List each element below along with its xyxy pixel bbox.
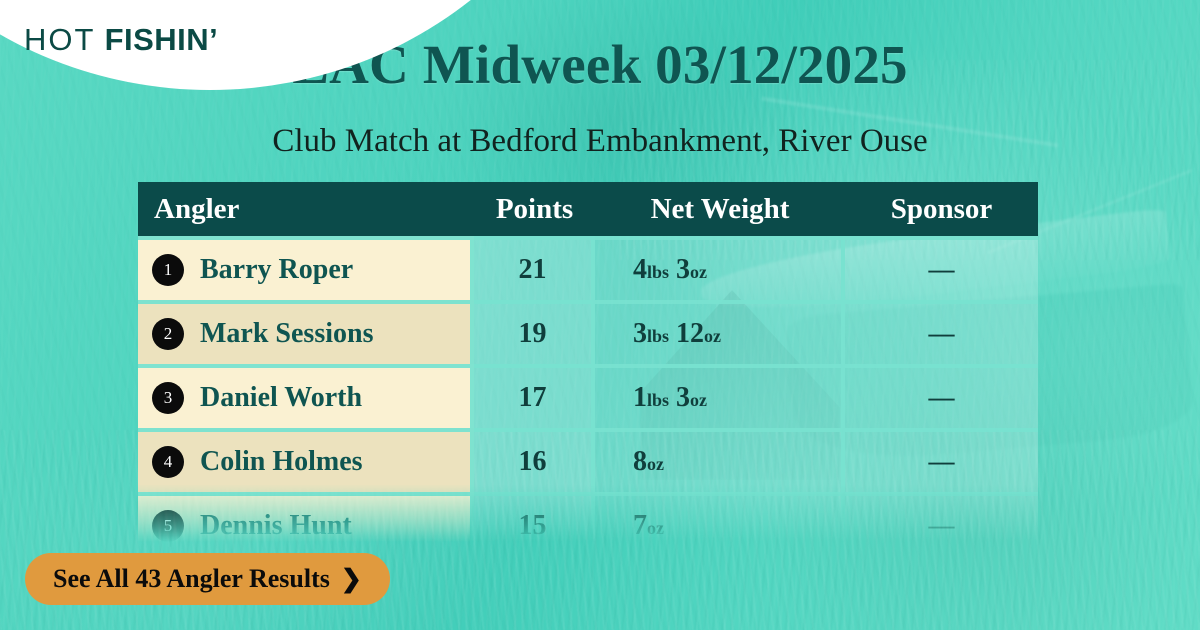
table-row[interactable]: 4Colin Holmes168oz—: [138, 428, 1038, 492]
weight-lbs-unit: lbs: [647, 326, 669, 346]
logo-word-fishin: FISHIN’: [105, 22, 219, 57]
table-body: 1Barry Roper214lbs3oz—2Mark Sessions193l…: [138, 236, 1038, 542]
angler-name: Daniel Worth: [200, 382, 362, 414]
weight-oz-unit: oz: [690, 390, 707, 410]
cell-sponsor: —: [845, 300, 1038, 364]
angler-cell-content: 4Colin Holmes: [152, 446, 456, 478]
angler-name: Dennis Hunt: [200, 510, 352, 542]
results-table-container: Angler Points Net Weight Sponsor 1Barry …: [138, 182, 1038, 542]
cell-sponsor: —: [845, 236, 1038, 300]
cell-net-weight: 1lbs3oz: [595, 364, 845, 428]
angler-cell-content: 5Dennis Hunt: [152, 510, 456, 542]
angler-cell-content: 1Barry Roper: [152, 254, 456, 286]
weight-lbs-value: 3: [633, 318, 647, 349]
weight-oz-unit: oz: [704, 326, 721, 346]
cell-sponsor: —: [845, 492, 1038, 542]
chevron-right-icon: ❯: [341, 564, 362, 594]
rank-badge: 3: [152, 382, 184, 414]
column-header-points: Points: [474, 182, 595, 236]
weight-lbs-unit: lbs: [647, 390, 669, 410]
cell-angler: 3Daniel Worth: [138, 364, 474, 428]
cell-points: 17: [474, 364, 595, 428]
angler-name: Barry Roper: [200, 254, 353, 286]
column-header-net-weight: Net Weight: [595, 182, 845, 236]
see-all-results-button[interactable]: See All 43 Angler Results ❯: [25, 553, 390, 605]
cell-net-weight: 7oz: [595, 492, 845, 542]
page-subtitle: Club Match at Bedford Embankment, River …: [0, 123, 1200, 160]
weight-oz-value: 8: [633, 446, 647, 477]
weight-oz-value: 3: [676, 254, 690, 285]
table-row[interactable]: 3Daniel Worth171lbs3oz—: [138, 364, 1038, 428]
cell-net-weight: 4lbs3oz: [595, 236, 845, 300]
see-all-results-label: See All 43 Angler Results: [53, 564, 330, 594]
cell-sponsor: —: [845, 364, 1038, 428]
cell-net-weight: 8oz: [595, 428, 845, 492]
rank-badge: 4: [152, 446, 184, 478]
cell-net-weight: 3lbs12oz: [595, 300, 845, 364]
cell-angler: 2Mark Sessions: [138, 300, 474, 364]
cell-sponsor: —: [845, 428, 1038, 492]
column-header-sponsor: Sponsor: [845, 182, 1038, 236]
cell-points: 21: [474, 236, 595, 300]
weight-oz-unit: oz: [647, 454, 664, 474]
rank-badge: 1: [152, 254, 184, 286]
cell-angler: 1Barry Roper: [138, 236, 474, 300]
table-row[interactable]: 5Dennis Hunt157oz—: [138, 492, 1038, 542]
weight-lbs-unit: lbs: [647, 262, 669, 282]
weight-oz-value: 12: [676, 318, 704, 349]
weight-oz-unit: oz: [690, 262, 707, 282]
cell-angler: 5Dennis Hunt: [138, 492, 474, 542]
weight-oz-unit: oz: [647, 518, 664, 538]
table-header-row: Angler Points Net Weight Sponsor: [138, 182, 1038, 236]
weight-oz-value: 3: [676, 382, 690, 413]
cell-points: 19: [474, 300, 595, 364]
table-header: Angler Points Net Weight Sponsor: [138, 182, 1038, 236]
results-table: Angler Points Net Weight Sponsor 1Barry …: [138, 182, 1038, 542]
angler-cell-content: 3Daniel Worth: [152, 382, 456, 414]
rank-badge: 2: [152, 318, 184, 350]
cell-angler: 4Colin Holmes: [138, 428, 474, 492]
logo-word-hot: HOT: [24, 22, 95, 57]
angler-name: Mark Sessions: [200, 318, 373, 350]
angler-cell-content: 2Mark Sessions: [152, 318, 456, 350]
brand-logo[interactable]: HOT FISHIN’: [24, 22, 218, 58]
cell-points: 15: [474, 492, 595, 542]
table-row[interactable]: 1Barry Roper214lbs3oz—: [138, 236, 1038, 300]
weight-lbs-value: 1: [633, 382, 647, 413]
weight-lbs-value: 4: [633, 254, 647, 285]
cell-points: 16: [474, 428, 595, 492]
rank-badge: 5: [152, 510, 184, 542]
column-header-angler: Angler: [138, 182, 474, 236]
weight-oz-value: 7: [633, 510, 647, 541]
table-row[interactable]: 2Mark Sessions193lbs12oz—: [138, 300, 1038, 364]
angler-name: Colin Holmes: [200, 446, 363, 478]
